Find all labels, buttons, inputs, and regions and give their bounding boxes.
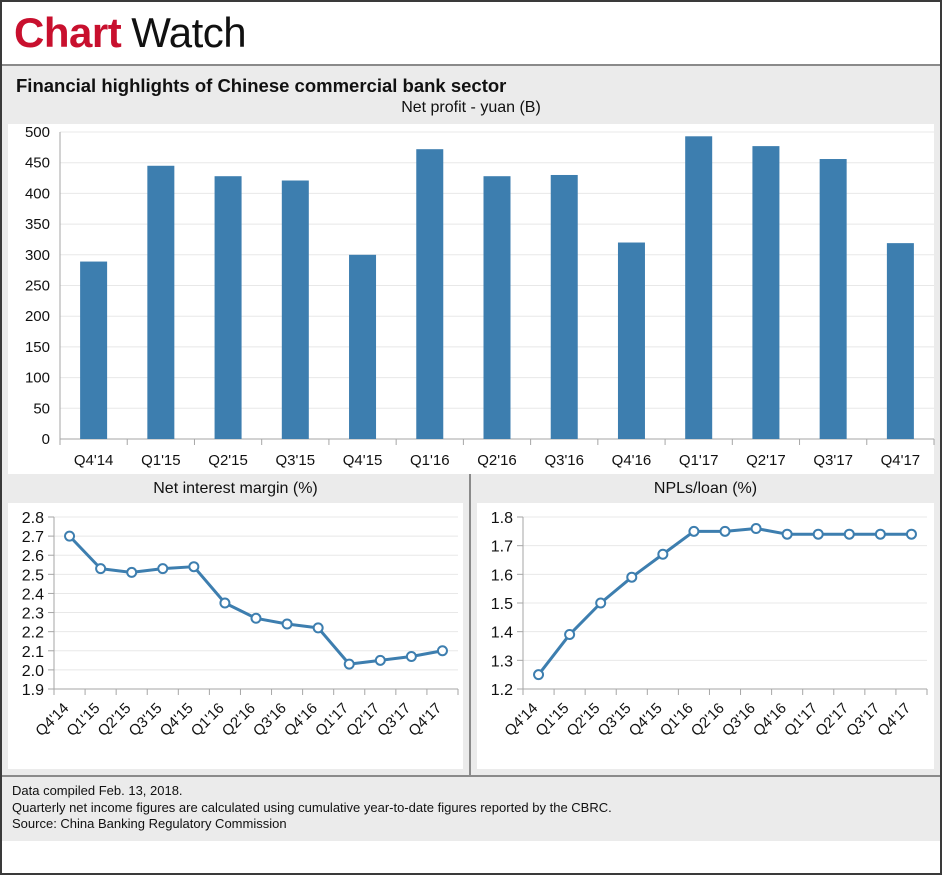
- x-axis-tick-label: Q3'16: [719, 700, 759, 740]
- y-axis-tick-label: 0: [42, 431, 50, 448]
- y-axis-tick-label: 100: [25, 370, 50, 387]
- bar: [349, 255, 376, 439]
- x-axis-tick-label: Q2'15: [208, 452, 248, 469]
- x-axis-tick-label: Q4'15: [343, 452, 383, 469]
- net-interest-margin-marker: [252, 614, 261, 623]
- bar-chart-subtitle: Net profit - yuan (B): [2, 99, 940, 124]
- y-axis-tick-label: 450: [25, 155, 50, 172]
- x-axis-tick-label: Q4'15: [626, 700, 666, 740]
- npl-loan-marker: [627, 573, 636, 582]
- net-interest-margin-marker: [283, 620, 292, 629]
- y-axis-tick-label: 1.3: [491, 653, 513, 670]
- x-axis-tick-label: Q2'16: [477, 452, 517, 469]
- npl-loan-marker: [907, 530, 916, 539]
- bar-chart-svg: 050100150200250300350400450500Q4'14Q1'15…: [8, 124, 938, 474]
- y-axis-tick-label: 2.7: [22, 529, 44, 546]
- footer-notes: Data compiled Feb. 13, 2018. Quarterly n…: [2, 775, 940, 841]
- x-axis-tick-label: Q2'17: [812, 700, 852, 740]
- footer-line-source: Source: China Banking Regulatory Commiss…: [12, 816, 940, 833]
- x-axis-tick-label: Q2'15: [95, 700, 135, 740]
- y-axis-tick-label: 1.6: [491, 567, 513, 584]
- masthead: Chart Watch: [2, 2, 940, 64]
- x-axis-tick-label: Q2'17: [746, 452, 786, 469]
- x-axis-tick-label: Q1'16: [188, 700, 228, 740]
- x-axis-tick-label: Q4'14: [32, 700, 72, 740]
- x-axis-tick-label: Q1'15: [63, 700, 103, 740]
- npl-loan-marker: [689, 527, 698, 536]
- x-axis-tick-label: Q3'17: [374, 700, 414, 740]
- x-axis-tick-label: Q1'15: [141, 452, 181, 469]
- npl-loan-svg: 1.21.31.41.51.61.71.8Q4'14Q1'15Q2'15Q3'1…: [477, 503, 936, 769]
- y-axis-tick-label: 500: [25, 124, 50, 141]
- npl-loan-chart: 1.21.31.41.51.61.71.8Q4'14Q1'15Q2'15Q3'1…: [477, 503, 934, 769]
- bar: [484, 176, 511, 439]
- x-axis-tick-label: Q4'16: [750, 700, 790, 740]
- y-axis-tick-label: 1.4: [491, 625, 513, 642]
- y-axis-tick-label: 200: [25, 308, 50, 325]
- npl-loan-marker: [876, 530, 885, 539]
- bar: [752, 146, 779, 439]
- mini-charts-strip: Net interest margin (%) 1.92.02.12.22.32…: [2, 474, 940, 775]
- x-axis-tick-label: Q3'17: [843, 700, 883, 740]
- page-title: Financial highlights of Chinese commerci…: [2, 66, 940, 99]
- bar: [887, 243, 914, 439]
- npl-loan-marker: [845, 530, 854, 539]
- bar: [551, 175, 578, 439]
- bar: [685, 136, 712, 439]
- y-axis-tick-label: 2.0: [22, 663, 44, 680]
- y-axis-tick-label: 50: [33, 400, 50, 417]
- net-interest-margin-marker: [127, 568, 136, 577]
- net-interest-margin-marker: [407, 652, 416, 661]
- chart-watch-page: Chart Watch Financial highlights of Chin…: [0, 0, 942, 875]
- x-axis-tick-label: Q3'16: [250, 700, 290, 740]
- x-axis-tick-label: Q4'17: [874, 700, 914, 740]
- x-axis-tick-label: Q4'16: [281, 700, 321, 740]
- y-axis-tick-label: 300: [25, 247, 50, 264]
- bar: [820, 159, 847, 439]
- y-axis-tick-label: 1.8: [491, 510, 513, 527]
- npl-loan-marker: [596, 599, 605, 608]
- net-interest-margin-marker: [438, 646, 447, 655]
- x-axis-tick-label: Q1'17: [312, 700, 352, 740]
- net-interest-margin-svg: 1.92.02.12.22.32.42.52.62.72.8Q4'14Q1'15…: [8, 503, 467, 769]
- npl-loan-marker: [565, 630, 574, 639]
- x-axis-tick-label: Q4'15: [157, 700, 197, 740]
- y-axis-tick-label: 400: [25, 185, 50, 202]
- bar: [416, 149, 443, 439]
- x-axis-tick-label: Q1'15: [532, 700, 572, 740]
- x-axis-tick-label: Q3'15: [276, 452, 316, 469]
- y-axis-tick-label: 350: [25, 216, 50, 233]
- npl-loan-marker: [814, 530, 823, 539]
- y-axis-tick-label: 1.5: [491, 596, 513, 613]
- net-interest-margin-marker: [314, 623, 323, 632]
- x-axis-tick-label: Q2'15: [564, 700, 604, 740]
- bar: [215, 176, 242, 439]
- net-interest-margin-marker: [189, 562, 198, 571]
- x-axis-tick-label: Q1'16: [657, 700, 697, 740]
- net-interest-margin-title: Net interest margin (%): [2, 474, 469, 503]
- npl-loan-column: NPLs/loan (%) 1.21.31.41.51.61.71.8Q4'14…: [471, 474, 940, 775]
- net-interest-margin-marker: [345, 660, 354, 669]
- y-axis-tick-label: 2.5: [22, 567, 44, 584]
- x-axis-tick-label: Q1'17: [679, 452, 719, 469]
- x-axis-tick-label: Q4'17: [405, 700, 445, 740]
- bar: [282, 181, 309, 439]
- y-axis-tick-label: 150: [25, 339, 50, 356]
- net-interest-margin-marker: [65, 532, 74, 541]
- npl-loan-title: NPLs/loan (%): [471, 474, 940, 503]
- x-axis-tick-label: Q4'14: [74, 452, 114, 469]
- bar: [80, 262, 107, 439]
- net-interest-margin-marker: [376, 656, 385, 665]
- x-axis-tick-label: Q4'16: [612, 452, 652, 469]
- x-axis-tick-label: Q3'15: [126, 700, 166, 740]
- x-axis-tick-label: Q3'17: [813, 452, 853, 469]
- footer-line-compiled: Data compiled Feb. 13, 2018.: [12, 783, 940, 800]
- x-axis-tick-label: Q1'17: [781, 700, 821, 740]
- y-axis-tick-label: 2.2: [22, 625, 44, 642]
- y-axis-tick-label: 2.6: [22, 548, 44, 565]
- footer-line-method: Quarterly net income figures are calcula…: [12, 800, 940, 817]
- npl-loan-line: [539, 528, 912, 674]
- bar: [618, 243, 645, 439]
- x-axis-tick-label: Q2'16: [688, 700, 728, 740]
- x-axis-tick-label: Q1'16: [410, 452, 450, 469]
- npl-loan-marker: [783, 530, 792, 539]
- net-interest-margin-column: Net interest margin (%) 1.92.02.12.22.32…: [2, 474, 471, 775]
- y-axis-tick-label: 1.2: [491, 682, 513, 699]
- brand-name-bold: Chart: [14, 12, 121, 54]
- net-interest-margin-marker: [96, 564, 105, 573]
- net-interest-margin-marker: [220, 599, 229, 608]
- x-axis-tick-label: Q2'17: [343, 700, 383, 740]
- npl-loan-marker: [721, 527, 730, 536]
- x-axis-tick-label: Q4'17: [881, 452, 921, 469]
- x-axis-tick-label: Q4'14: [501, 700, 541, 740]
- x-axis-tick-label: Q2'16: [219, 700, 259, 740]
- net-interest-margin-marker: [158, 564, 167, 573]
- net-profit-bar-chart: 050100150200250300350400450500Q4'14Q1'15…: [8, 124, 934, 474]
- bar: [147, 166, 174, 439]
- y-axis-tick-label: 2.8: [22, 510, 44, 527]
- y-axis-tick-label: 1.9: [22, 682, 44, 699]
- x-axis-tick-label: Q3'16: [544, 452, 584, 469]
- npl-loan-marker: [534, 670, 543, 679]
- y-axis-tick-label: 2.1: [22, 644, 44, 661]
- npl-loan-marker: [752, 524, 761, 533]
- npl-loan-marker: [658, 550, 667, 559]
- y-axis-tick-label: 250: [25, 278, 50, 295]
- y-axis-tick-label: 1.7: [491, 539, 513, 556]
- x-axis-tick-label: Q3'15: [595, 700, 635, 740]
- y-axis-tick-label: 2.4: [22, 586, 44, 603]
- net-interest-margin-chart: 1.92.02.12.22.32.42.52.62.72.8Q4'14Q1'15…: [8, 503, 463, 769]
- brand-name-light: Watch: [131, 12, 246, 54]
- y-axis-tick-label: 2.3: [22, 606, 44, 623]
- main-panel: Financial highlights of Chinese commerci…: [2, 64, 940, 474]
